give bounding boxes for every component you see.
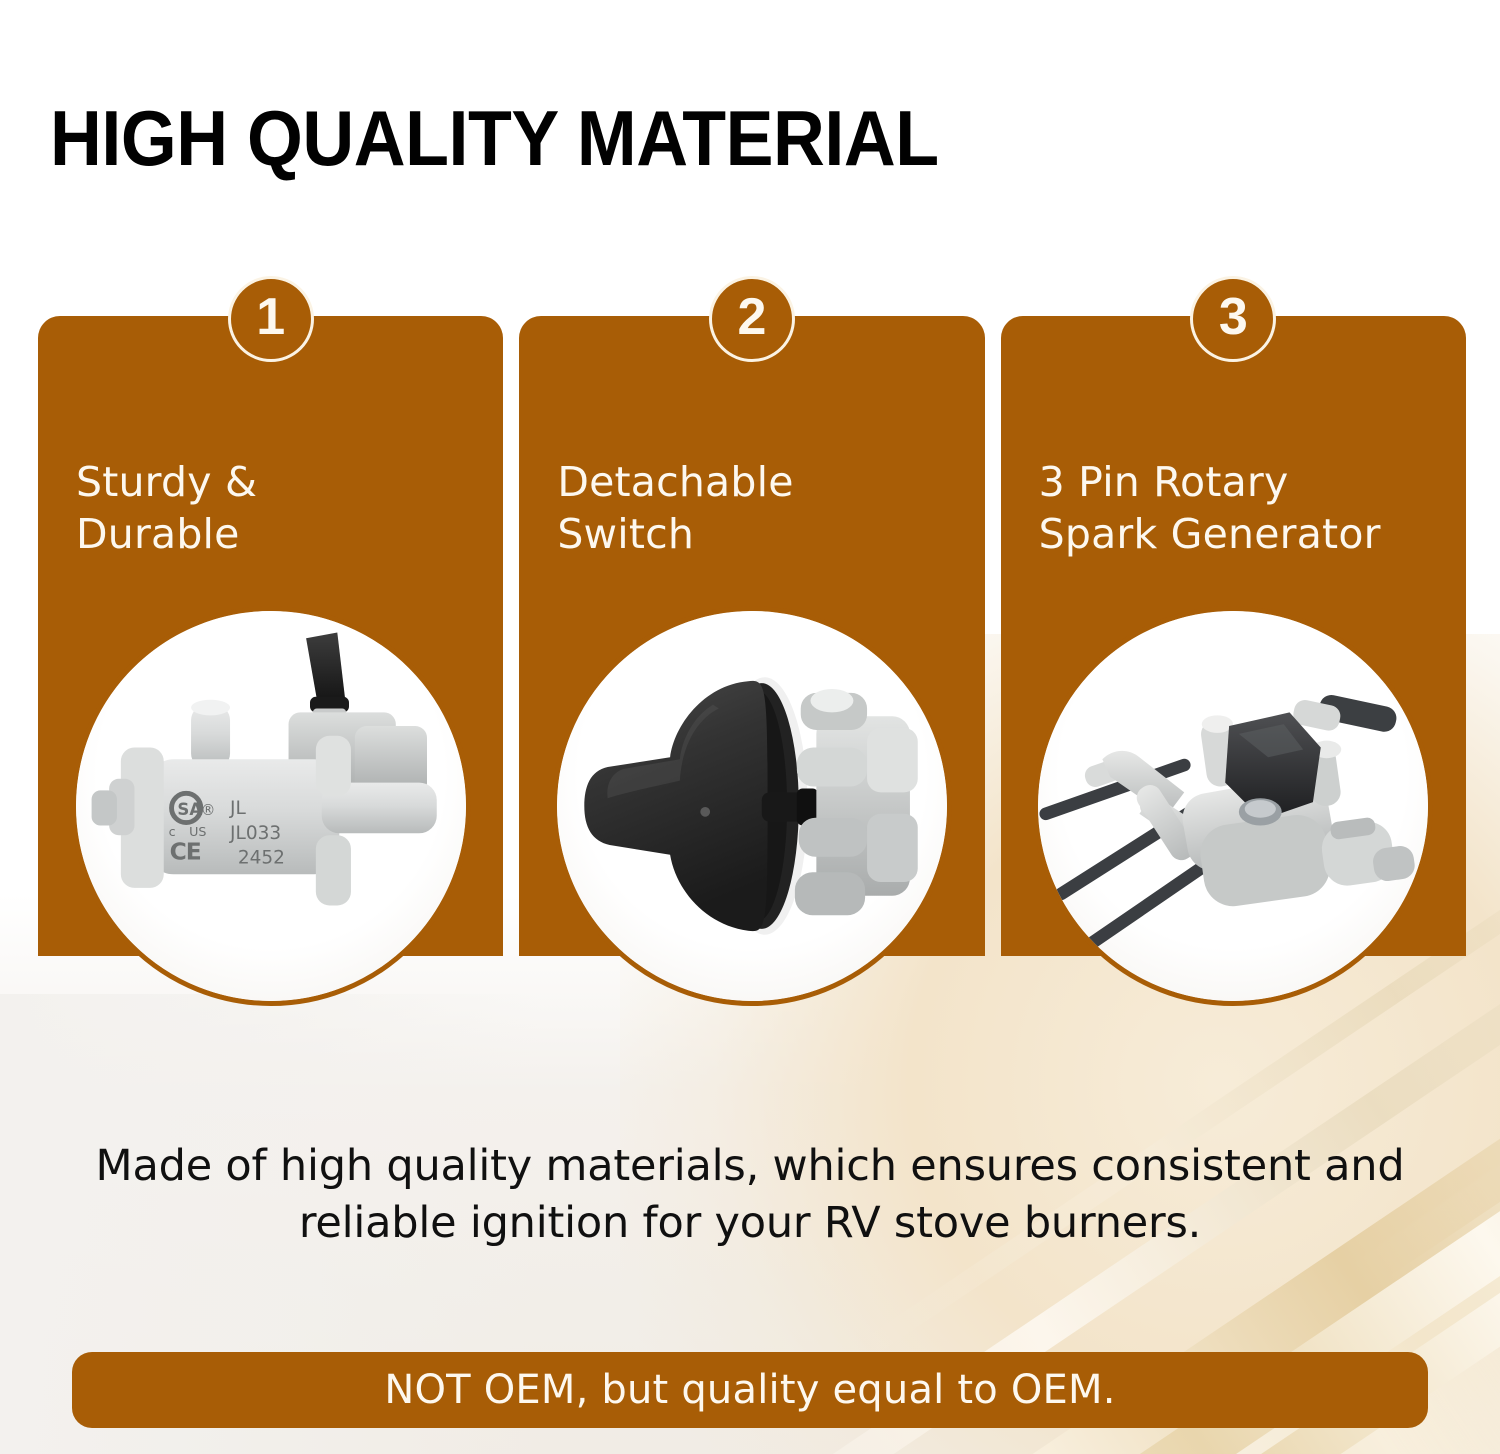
oem-disclaimer-banner: NOT OEM, but quality equal to OEM. <box>72 1352 1428 1428</box>
step-badge-3: 3 <box>1190 276 1276 362</box>
description-paragraph: Made of high quality materials, which en… <box>70 1138 1430 1252</box>
feature-card-1-title: Sturdy & Durable <box>38 456 503 560</box>
product-photo-1: SA ® c US CE JL JL033 2452 <box>71 606 471 1006</box>
svg-text:2452: 2452 <box>238 848 285 869</box>
spark-generator-illustration-icon <box>1038 611 1428 1001</box>
infographic-page: HIGH QUALITY MATERIAL 1 Sturdy & Durable <box>0 0 1500 1454</box>
svg-text:CE: CE <box>169 838 200 866</box>
feature-card-2-title: Detachable Switch <box>519 456 984 560</box>
product-photo-2 <box>552 606 952 1006</box>
svg-text:JL: JL <box>229 798 246 819</box>
svg-text:JL033: JL033 <box>229 823 281 844</box>
feature-card-row: 1 Sturdy & Durable <box>38 316 1466 956</box>
step-badge-2: 2 <box>709 276 795 362</box>
feature-card-2: 2 Detachable Switch <box>519 316 984 956</box>
svg-text:®: ® <box>200 802 215 819</box>
svg-text:SA: SA <box>177 800 202 819</box>
valve-illustration-icon: SA ® c US CE JL JL033 2452 <box>76 611 466 1001</box>
page-title: HIGH QUALITY MATERIAL <box>50 98 939 178</box>
feature-card-1: 1 Sturdy & Durable <box>38 316 503 956</box>
feature-card-3-title: 3 Pin Rotary Spark Generator <box>1001 456 1466 560</box>
feature-card-3: 3 3 Pin Rotary Spark Generator <box>1001 316 1466 956</box>
product-photo-3 <box>1033 606 1433 1006</box>
knob-illustration-icon <box>557 611 947 1001</box>
step-badge-1: 1 <box>228 276 314 362</box>
